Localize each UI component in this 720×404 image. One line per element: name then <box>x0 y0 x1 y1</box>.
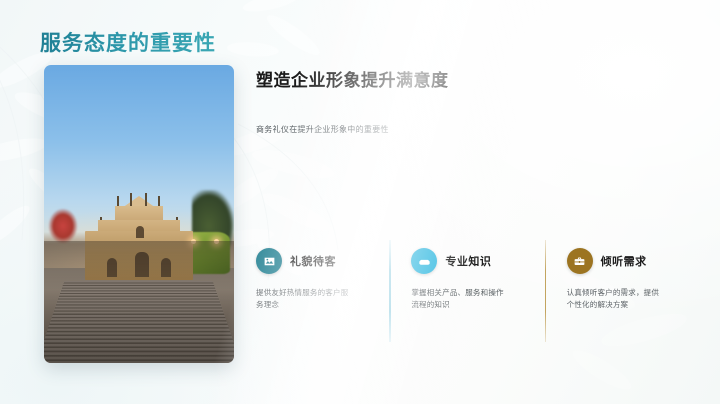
feature-header: 专业知识 <box>411 246 530 276</box>
feature-body: 认真倾听客户的需求，提供个性化的解决方案 <box>567 287 663 310</box>
feature-list: 礼貌待客 提供友好热情服务的客户服务理念 专业知识 掌握相关产品、服务和操作流程… <box>256 246 700 346</box>
facade-spire <box>145 193 147 206</box>
feature-card-1[interactable]: 礼貌待客 提供友好热情服务的客户服务理念 <box>256 246 389 346</box>
slide-canvas: 服务态度的重要性 <box>0 0 720 404</box>
divider-gold <box>545 240 547 342</box>
feature-header: 倾听需求 <box>567 246 686 276</box>
feature-card-2[interactable]: 专业知识 掌握相关产品、服务和操作流程的知识 <box>389 246 544 346</box>
staircase-shading <box>44 241 234 363</box>
feature-title: 专业知识 <box>445 253 491 269</box>
hero-image <box>44 65 234 363</box>
facade-window <box>136 226 145 238</box>
feature-card-3[interactable]: 倾听需求 认真倾听客户的需求，提供个性化的解决方案 <box>545 246 700 346</box>
briefcase-icon <box>567 248 593 274</box>
feature-header: 礼貌待客 <box>256 246 375 276</box>
hero-image-card <box>44 65 234 363</box>
picture-icon <box>256 248 282 274</box>
sofa-icon <box>411 248 437 274</box>
page-title: 服务态度的重要性 <box>40 27 216 57</box>
divider-blue <box>389 240 391 342</box>
facade-spire <box>117 196 119 206</box>
feature-title: 礼貌待客 <box>290 253 336 269</box>
feature-body: 掌握相关产品、服务和操作流程的知识 <box>411 287 507 310</box>
subheadline: 商务礼仪在提升企业形象中的重要性 <box>256 124 389 135</box>
feature-title: 倾听需求 <box>601 253 647 269</box>
feature-body: 提供友好热情服务的客户服务理念 <box>256 287 352 310</box>
facade-spire <box>158 196 160 206</box>
flower-bed <box>48 208 78 244</box>
facade-spire <box>130 193 132 206</box>
headline: 塑造企业形象提升满意度 <box>256 66 449 91</box>
foliage-watermark-top <box>214 0 362 116</box>
